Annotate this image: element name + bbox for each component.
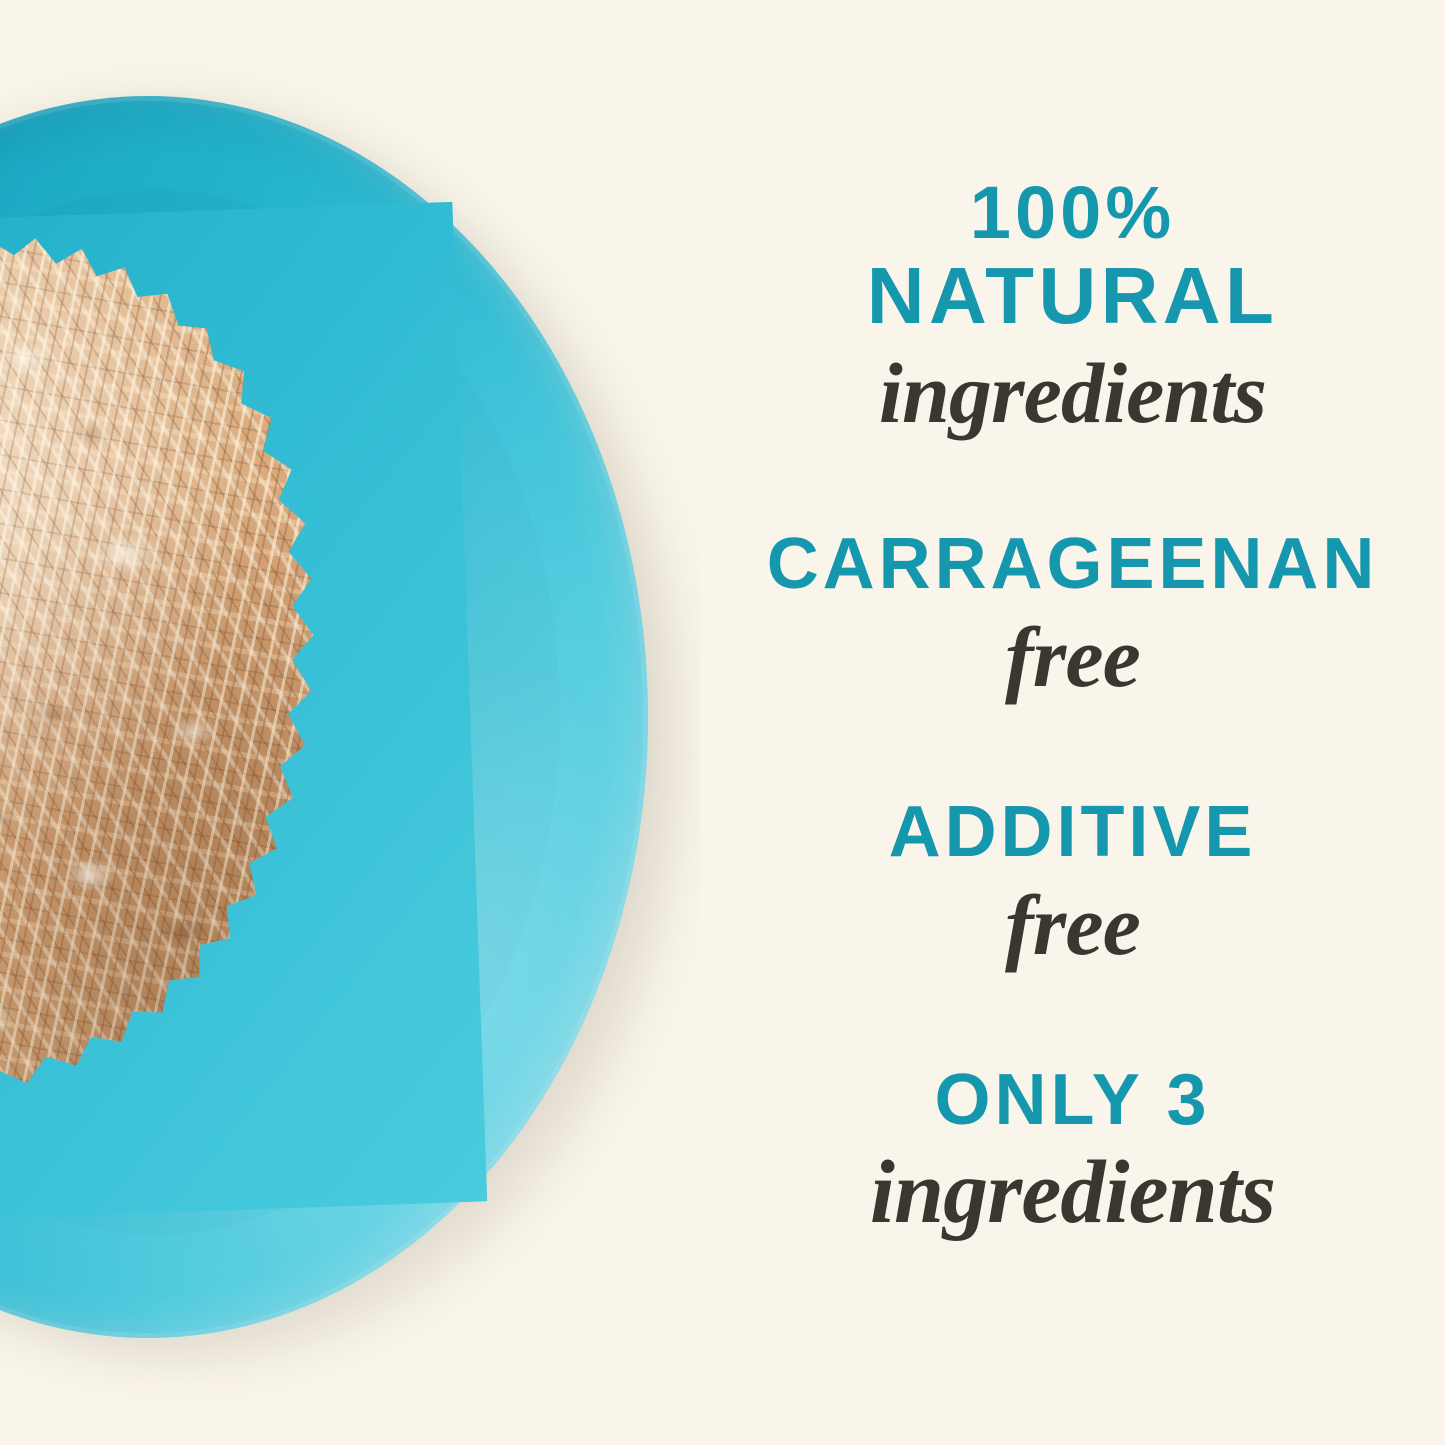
claim-4-subtext: ingredients bbox=[700, 1148, 1445, 1238]
claim-additive-free: ADDITIVE free bbox=[700, 796, 1445, 968]
shredded-tuna-mound bbox=[0, 202, 487, 1228]
product-photo bbox=[0, 0, 700, 1445]
claim-2-subtext: free bbox=[700, 614, 1445, 700]
claim-2-head-line-1: CARRAGEENAN bbox=[700, 528, 1445, 600]
claim-only-3-ingredients: ONLY 3 ingredients bbox=[700, 1064, 1445, 1238]
claim-3-head-line-1: ADDITIVE bbox=[700, 796, 1445, 868]
food-gloss-highlight bbox=[0, 202, 487, 1228]
claim-natural-ingredients: 100% NATURAL ingredients bbox=[700, 176, 1445, 436]
claim-1-subtext: ingredients bbox=[700, 350, 1445, 436]
claim-1-head-line-2: NATURAL bbox=[700, 256, 1445, 336]
claim-4-head-line-1: ONLY 3 bbox=[700, 1064, 1445, 1136]
claim-1-head-line-1: 100% bbox=[700, 176, 1445, 250]
claims-column: 100% NATURAL ingredients CARRAGEENAN fre… bbox=[700, 0, 1445, 1445]
claim-3-subtext: free bbox=[700, 882, 1445, 968]
claim-carrageenan-free: CARRAGEENAN free bbox=[700, 528, 1445, 700]
product-feature-panel: 100% NATURAL ingredients CARRAGEENAN fre… bbox=[0, 0, 1445, 1445]
